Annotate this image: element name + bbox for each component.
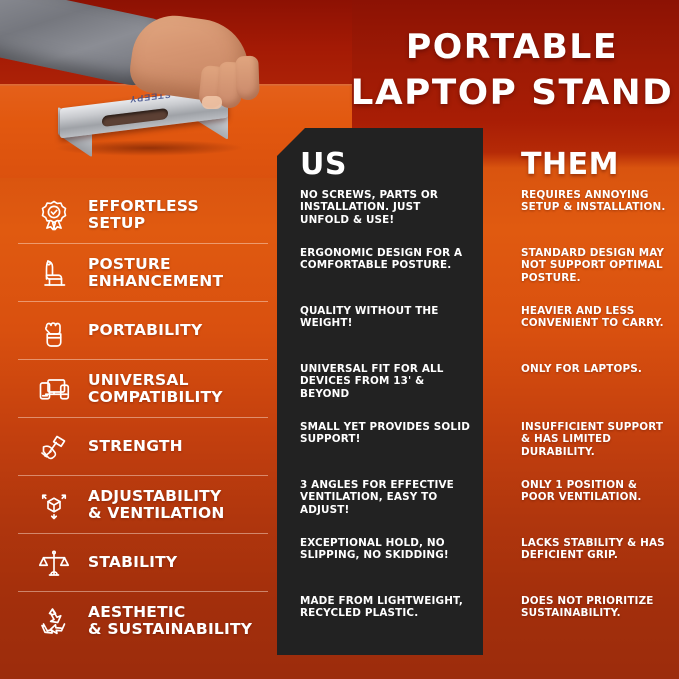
posture-chair-icon <box>28 252 80 294</box>
finger-3 <box>235 56 260 101</box>
us-column: NO SCREWS, PARTS OR INSTALLATION. JUST U… <box>300 186 472 650</box>
us-cell: MADE FROM LIGHTWEIGHT, RECYCLED PLASTIC. <box>300 592 472 650</box>
us-cell: 3 ANGLES FOR EFFECTIVE VENTILATION, EASY… <box>300 476 472 534</box>
hammer-arm-icon <box>28 426 80 468</box>
feature-label: STRENGTH <box>88 438 183 455</box>
hand-pocket-icon <box>28 310 80 352</box>
page-title: PORTABLE LAPTOP STAND <box>349 24 675 116</box>
them-cell: ONLY FOR LAPTOPS. <box>521 360 671 418</box>
us-cell: EXCEPTIONAL HOLD, NO SLIPPING, NO SKIDDI… <box>300 534 472 592</box>
feature-list: EFFORTLESS SETUP POSTURE ENHANCEMENT <box>18 186 268 650</box>
feature-label: AESTHETIC & SUSTAINABILITY <box>88 604 252 638</box>
them-cell: DOES NOT PRIORITIZE SUSTAINABILITY. <box>521 592 671 650</box>
badge-check-icon <box>28 194 80 236</box>
feature-row-strength: STRENGTH <box>18 418 268 476</box>
them-cell: STANDARD DESIGN MAY NOT SUPPORT OPTIMAL … <box>521 244 671 302</box>
them-cell: HEAVIER AND LESS CONVENIENT TO CARRY. <box>521 302 671 360</box>
feature-row-aesthetic-sustainability: AESTHETIC & SUSTAINABILITY <box>18 592 268 650</box>
feature-row-posture-enhancement: POSTURE ENHANCEMENT <box>18 244 268 302</box>
them-cell: ONLY 1 POSITION & POOR VENTILATION. <box>521 476 671 534</box>
feature-row-portability: PORTABILITY <box>18 302 268 360</box>
them-column: REQUIRES ANNOYING SETUP & INSTALLATION. … <box>521 186 671 650</box>
feature-label: PORTABILITY <box>88 322 202 339</box>
us-cell: UNIVERSAL FIT FOR ALL DEVICES FROM 13' &… <box>300 360 472 418</box>
fingernail <box>202 96 222 109</box>
them-column-heading: THEM <box>521 150 619 180</box>
product-comparison-poster: STEEPY PORTABLE LAPTOP STAND US THEM EF <box>0 0 679 679</box>
title-line-1: PORTABLE <box>349 24 675 70</box>
cube-arrows-icon <box>28 484 80 526</box>
feature-label: POSTURE ENHANCEMENT <box>88 256 223 290</box>
balance-scales-icon <box>28 542 80 584</box>
feature-row-adjustability-ventilation: ADJUSTABILITY & VENTILATION <box>18 476 268 534</box>
feature-row-effortless-setup: EFFORTLESS SETUP <box>18 186 268 244</box>
recycle-icon <box>28 600 80 642</box>
feature-row-stability: STABILITY <box>18 534 268 592</box>
us-cell: QUALITY WITHOUT THE WEIGHT! <box>300 302 472 360</box>
them-cell: LACKS STABILITY & HAS DEFICIENT GRIP. <box>521 534 671 592</box>
us-column-heading: US <box>300 150 347 180</box>
feature-label: ADJUSTABILITY & VENTILATION <box>88 488 225 522</box>
multi-device-icon <box>28 368 80 410</box>
feature-label: STABILITY <box>88 554 177 571</box>
us-cell: NO SCREWS, PARTS OR INSTALLATION. JUST U… <box>300 186 472 244</box>
feature-label: EFFORTLESS SETUP <box>88 198 199 232</box>
title-line-2: LAPTOP STAND <box>349 70 675 116</box>
us-cell: ERGONOMIC DESIGN FOR A COMFORTABLE POSTU… <box>300 244 472 302</box>
feature-row-universal-compatibility: UNIVERSAL COMPATIBILITY <box>18 360 268 418</box>
feature-label: UNIVERSAL COMPATIBILITY <box>88 372 223 406</box>
them-cell: REQUIRES ANNOYING SETUP & INSTALLATION. <box>521 186 671 244</box>
us-cell: SMALL YET PROVIDES SOLID SUPPORT! <box>300 418 472 476</box>
them-cell: INSUFFICIENT SUPPORT & HAS LIMITED DURAB… <box>521 418 671 476</box>
